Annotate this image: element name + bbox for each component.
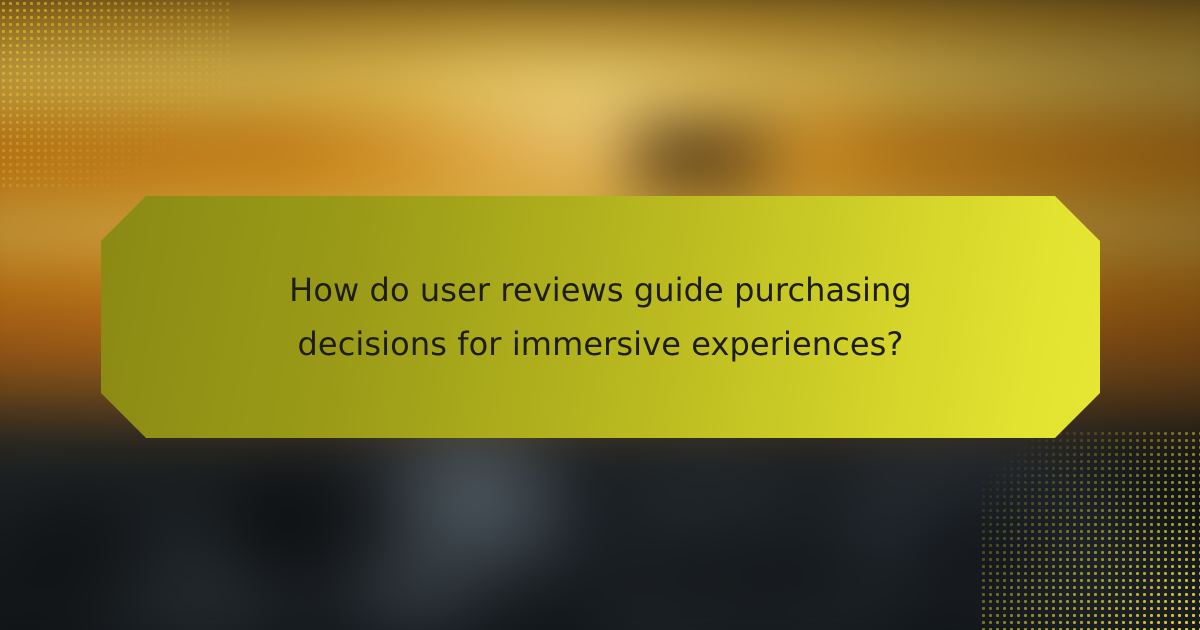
water-highlight-blob [416,439,546,525]
question-text: How do user reviews guide purchasing dec… [221,263,981,371]
rock-shadow-blob [0,482,157,612]
rock-shadow-blob [622,515,838,630]
question-card: How do user reviews guide purchasing dec… [101,196,1100,438]
poster-canvas: How do user reviews guide purchasing dec… [0,0,1200,630]
horizon-silhouette [622,113,784,210]
rock-shadow-blob [222,466,406,585]
top-shadow-band [0,0,1200,72]
rock-shadow-blob [902,493,1075,612]
